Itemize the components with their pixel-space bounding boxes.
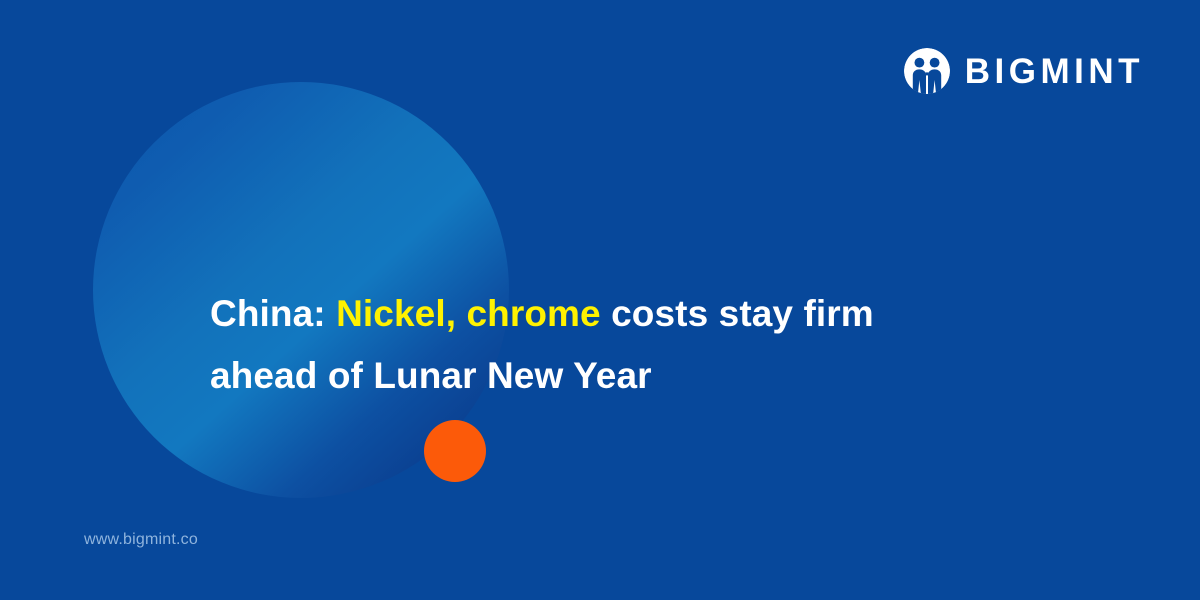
headline: China: Nickel, chrome costs stay firm ah… — [210, 283, 1090, 407]
orange-dot — [424, 420, 486, 482]
site-url[interactable]: www.bigmint.co — [84, 531, 198, 549]
news-banner: BIGMINT China: Nickel, chrome costs stay… — [0, 0, 1200, 600]
headline-line-1: China: Nickel, chrome costs stay firm — [210, 283, 1090, 345]
brand-logo[interactable]: BIGMINT — [903, 47, 1144, 95]
brand-wordmark: BIGMINT — [965, 54, 1144, 89]
headline-suffix: costs stay firm — [601, 293, 874, 334]
headline-highlight: Nickel, chrome — [336, 293, 601, 334]
headline-line-2: ahead of Lunar New Year — [210, 345, 1090, 407]
bigmint-people-circle-icon — [903, 47, 951, 95]
headline-prefix: China: — [210, 293, 336, 334]
